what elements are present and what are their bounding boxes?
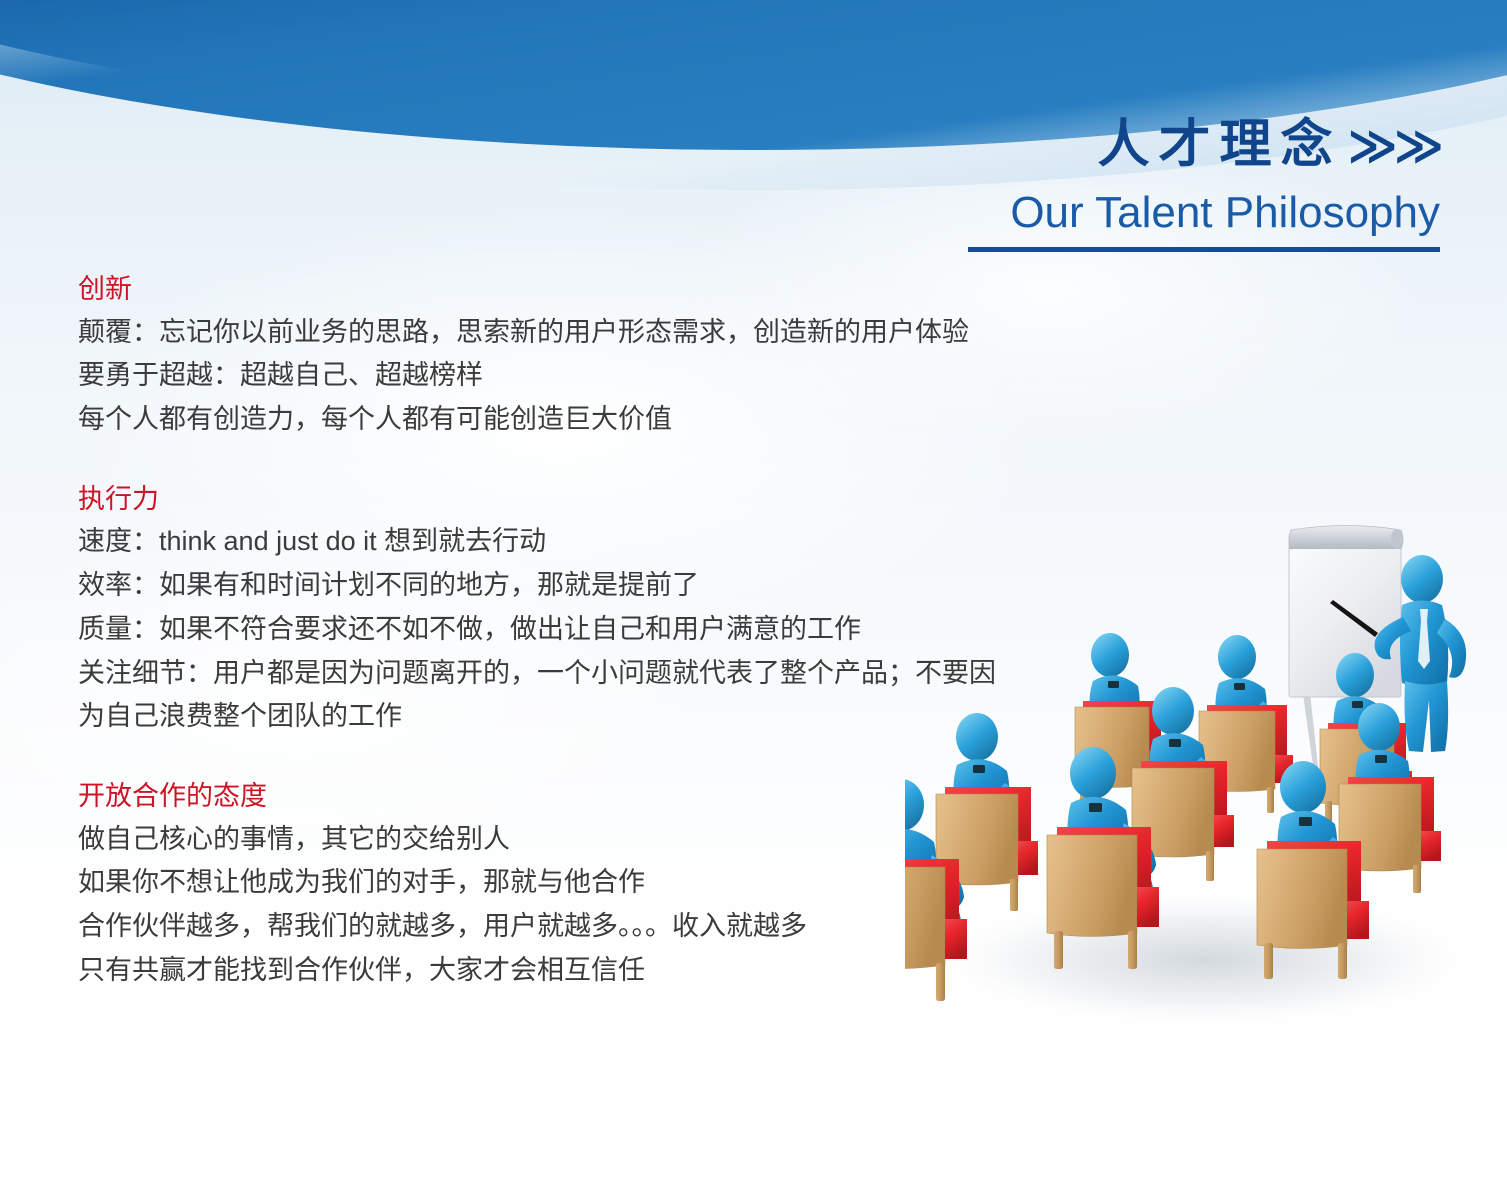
section-line: 效率：如果有和时间计划不同的地方，那就是提前了 (78, 564, 1088, 608)
page-subtitle-en: Our Talent Philosophy (940, 191, 1440, 235)
section-line: 合作伙伴越多，帮我们的就越多，用户就越多。。。收入就越多 (78, 905, 1088, 949)
section-open-cooperation: 开放合作的态度 做自己核心的事情，其它的交给别人 如果你不想让他成为我们的对手，… (78, 779, 1088, 993)
section-line: 为自己浪费整个团队的工作 (78, 695, 1088, 739)
presenter-legs (1405, 681, 1449, 752)
chair-wood-back (1257, 849, 1347, 949)
section-line: 质量：如果不符合要求还不如不做，做出让自己和用户满意的工作 (78, 608, 1088, 652)
figure-head (1152, 687, 1194, 735)
section-execution: 执行力 速度：think and just do it 想到就去行动 效率：如果… (78, 482, 1088, 739)
figure-head (1280, 761, 1326, 813)
chair-leg (1338, 943, 1347, 979)
section-line: 做自己核心的事情，其它的交给别人 (78, 818, 1088, 862)
chair-cushion (1214, 815, 1234, 847)
chair-cushion (1421, 831, 1441, 861)
figure-head (1091, 633, 1129, 677)
section-heading: 执行力 (78, 482, 1088, 518)
section-innovation: 创新 颠覆：忘记你以前业务的思路，思索新的用户形态需求，创造新的用户体验 要勇于… (78, 272, 1088, 442)
title-underline-rule (968, 247, 1440, 252)
section-line: 颠覆：忘记你以前业务的思路，思索新的用户形态需求，创造新的用户体验 (78, 311, 1088, 355)
section-line: 关注细节：用户都是因为问题离开的，一个小问题就代表了整个产品；不要因 (78, 652, 1088, 696)
chair-cushion (1137, 887, 1159, 927)
presenter-head (1401, 555, 1443, 603)
figure-head (1358, 703, 1400, 751)
chair-cushion (1347, 901, 1369, 939)
section-line: 速度：think and just do it 想到就去行动 (78, 520, 1088, 564)
page-title-cn-text: 人才理念 (1097, 116, 1341, 174)
page-title-cn: 人才理念≫≫ (940, 118, 1440, 173)
chevron-right-icon: ≫≫ (1348, 120, 1441, 173)
slide-canvas: 人才理念≫≫ Our Talent Philosophy 创新 颠覆：忘记你以前… (0, 0, 1507, 1200)
chair-leg (1206, 851, 1214, 881)
section-heading: 开放合作的态度 (78, 779, 1088, 815)
section-line: 要勇于超越：超越自己、超越榜样 (78, 354, 1088, 398)
chair-leg (1128, 931, 1137, 969)
slide-title-block: 人才理念≫≫ Our Talent Philosophy (940, 118, 1440, 252)
chair-leg (1267, 787, 1274, 813)
section-line: 如果你不想让他成为我们的对手，那就与他合作 (78, 861, 1088, 905)
section-line: 只有共赢才能找到合作伙伴，大家才会相互信任 (78, 949, 1088, 993)
section-line: 每个人都有创造力，每个人都有可能创造巨大价值 (78, 398, 1088, 442)
figure-head (1218, 635, 1256, 679)
content-body: 创新 颠覆：忘记你以前业务的思路，思索新的用户形态需求，创造新的用户体验 要勇于… (78, 272, 1088, 993)
figure-head (1336, 653, 1374, 697)
section-heading: 创新 (78, 272, 1088, 308)
chair-leg (1413, 865, 1421, 893)
chair-leg (1264, 943, 1273, 979)
